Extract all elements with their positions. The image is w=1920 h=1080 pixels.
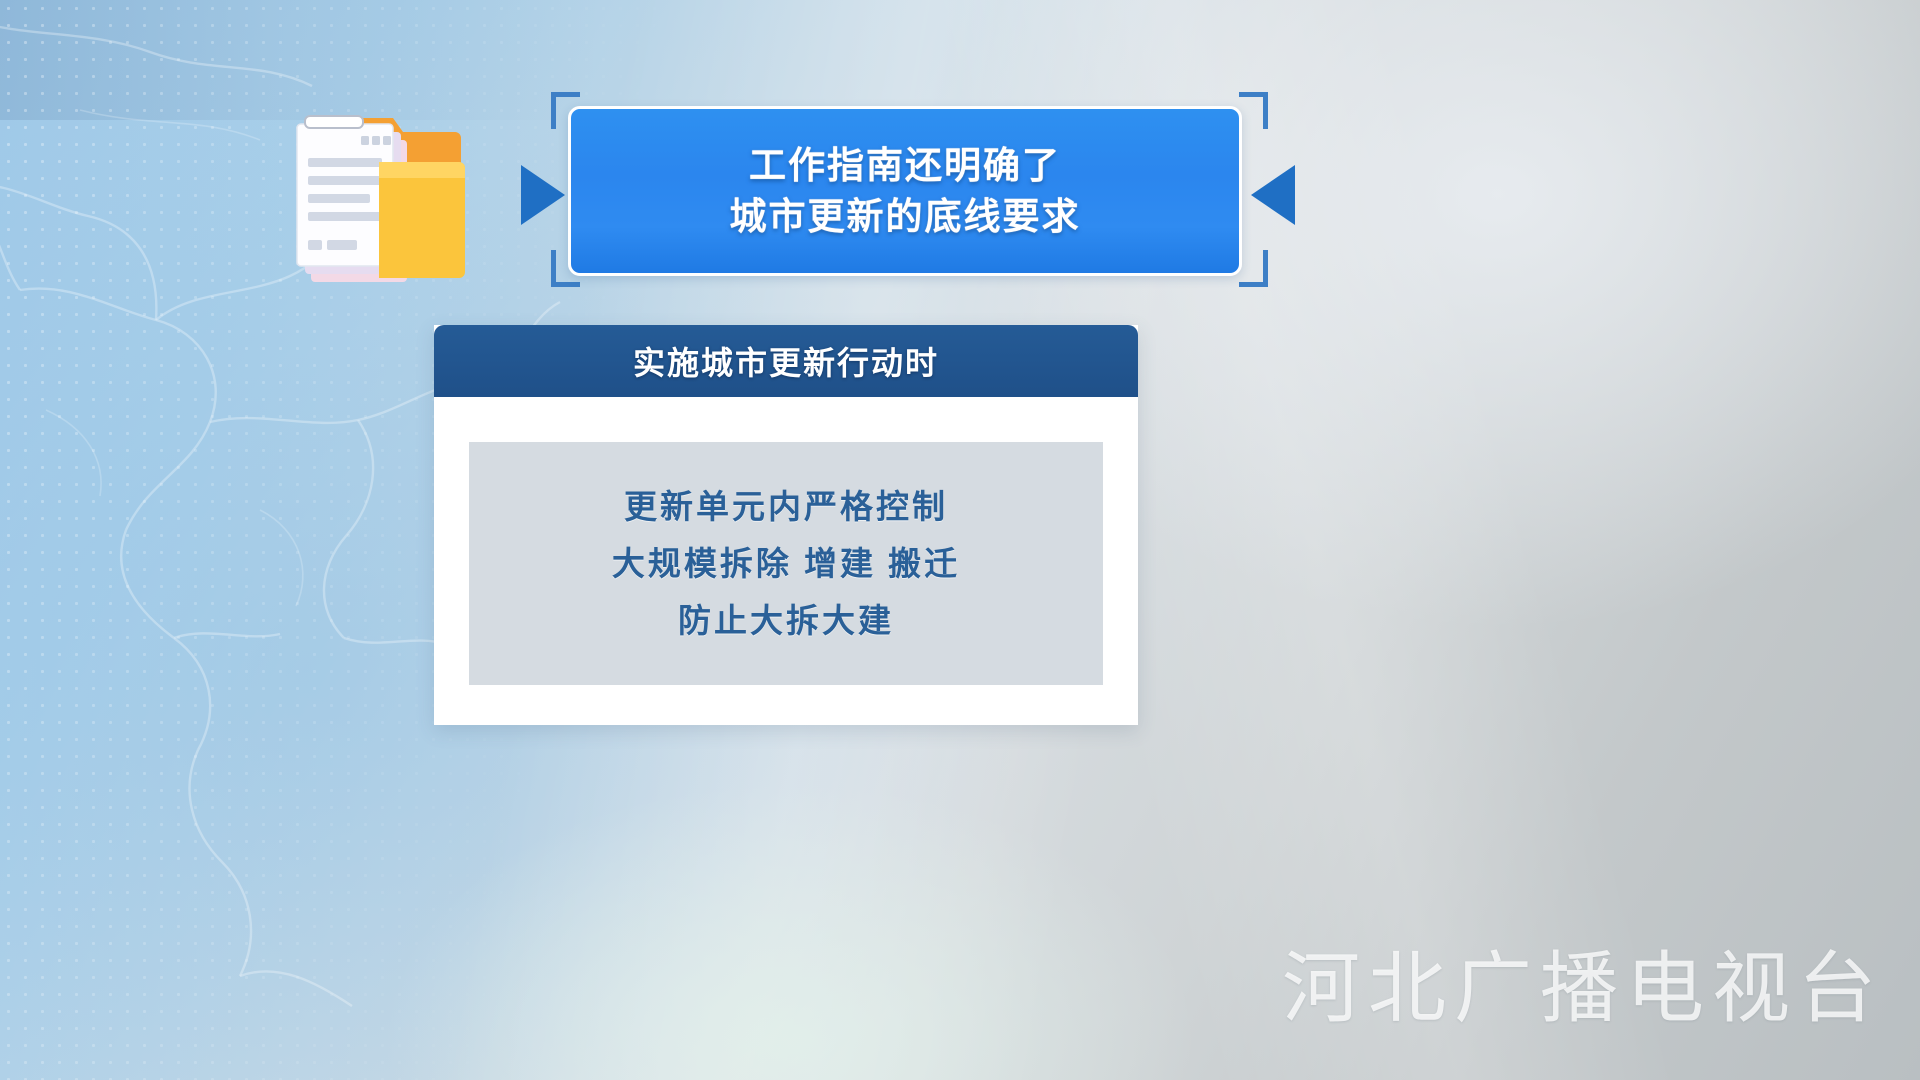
bracket-top-right-icon — [1239, 92, 1268, 129]
station-watermark: 河北广播电视台 — [1282, 926, 1884, 1038]
detail-card-header: 实施城市更新行动时 — [434, 325, 1138, 397]
detail-card-body: 更新单元内严格控制 大规模拆除 增建 搬迁 防止大拆大建 — [434, 397, 1138, 725]
triangle-left-icon — [1251, 165, 1295, 225]
detail-line-2: 大规模拆除 增建 搬迁 — [612, 543, 960, 584]
headline-line-2: 城市更新的底线要求 — [730, 191, 1081, 242]
headline-line-1: 工作指南还明确了 — [749, 140, 1061, 191]
document-folder-icon — [283, 100, 468, 296]
detail-card-header-text: 实施城市更新行动时 — [633, 338, 939, 384]
bracket-bottom-right-icon — [1239, 250, 1268, 287]
detail-card-inner-box: 更新单元内严格控制 大规模拆除 增建 搬迁 防止大拆大建 — [469, 442, 1103, 685]
triangle-right-icon — [521, 165, 565, 225]
detail-line-3: 防止大拆大建 — [678, 600, 894, 641]
detail-line-1: 更新单元内严格控制 — [624, 486, 948, 527]
broadcast-graphic-stage: 工作指南还明确了 城市更新的底线要求 实施城市更新行动时 更新单元内严格控制 大… — [0, 0, 1920, 1080]
background-bottom-glow — [380, 780, 1200, 1080]
headline-banner: 工作指南还明确了 城市更新的底线要求 — [568, 106, 1242, 276]
